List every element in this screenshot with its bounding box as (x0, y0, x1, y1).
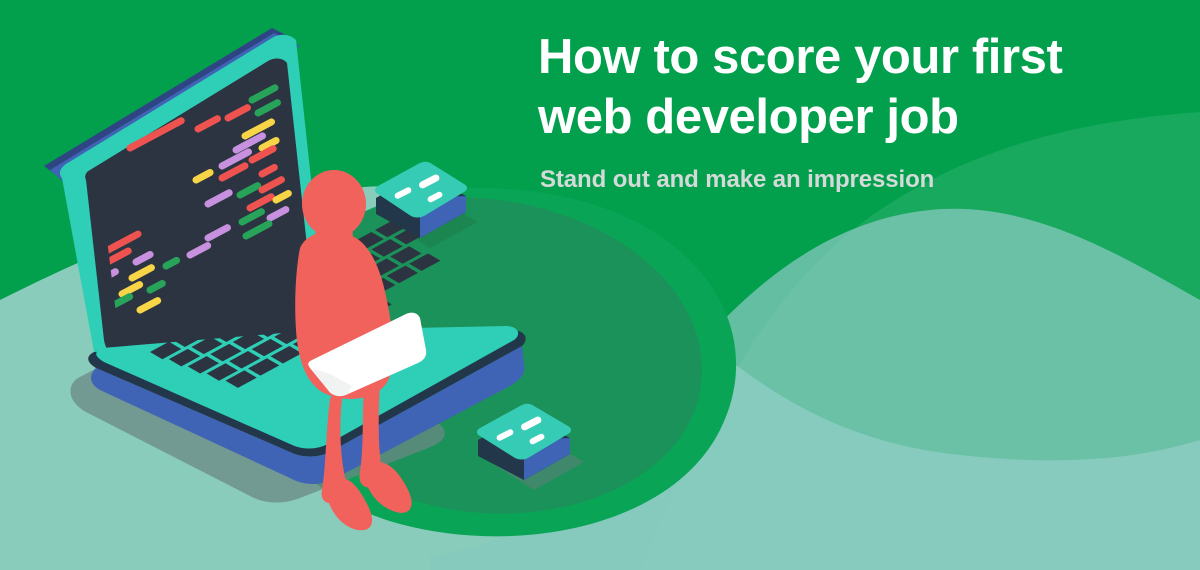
hero-banner: How to score your first web developer jo… (0, 0, 1200, 570)
code-line (166, 260, 177, 266)
person-head (302, 170, 366, 238)
page-title: How to score your first web developer jo… (538, 28, 1158, 148)
hero-text-block: How to score your first web developer jo… (538, 28, 1158, 194)
page-subtitle: Stand out and make an impression (540, 166, 1158, 194)
